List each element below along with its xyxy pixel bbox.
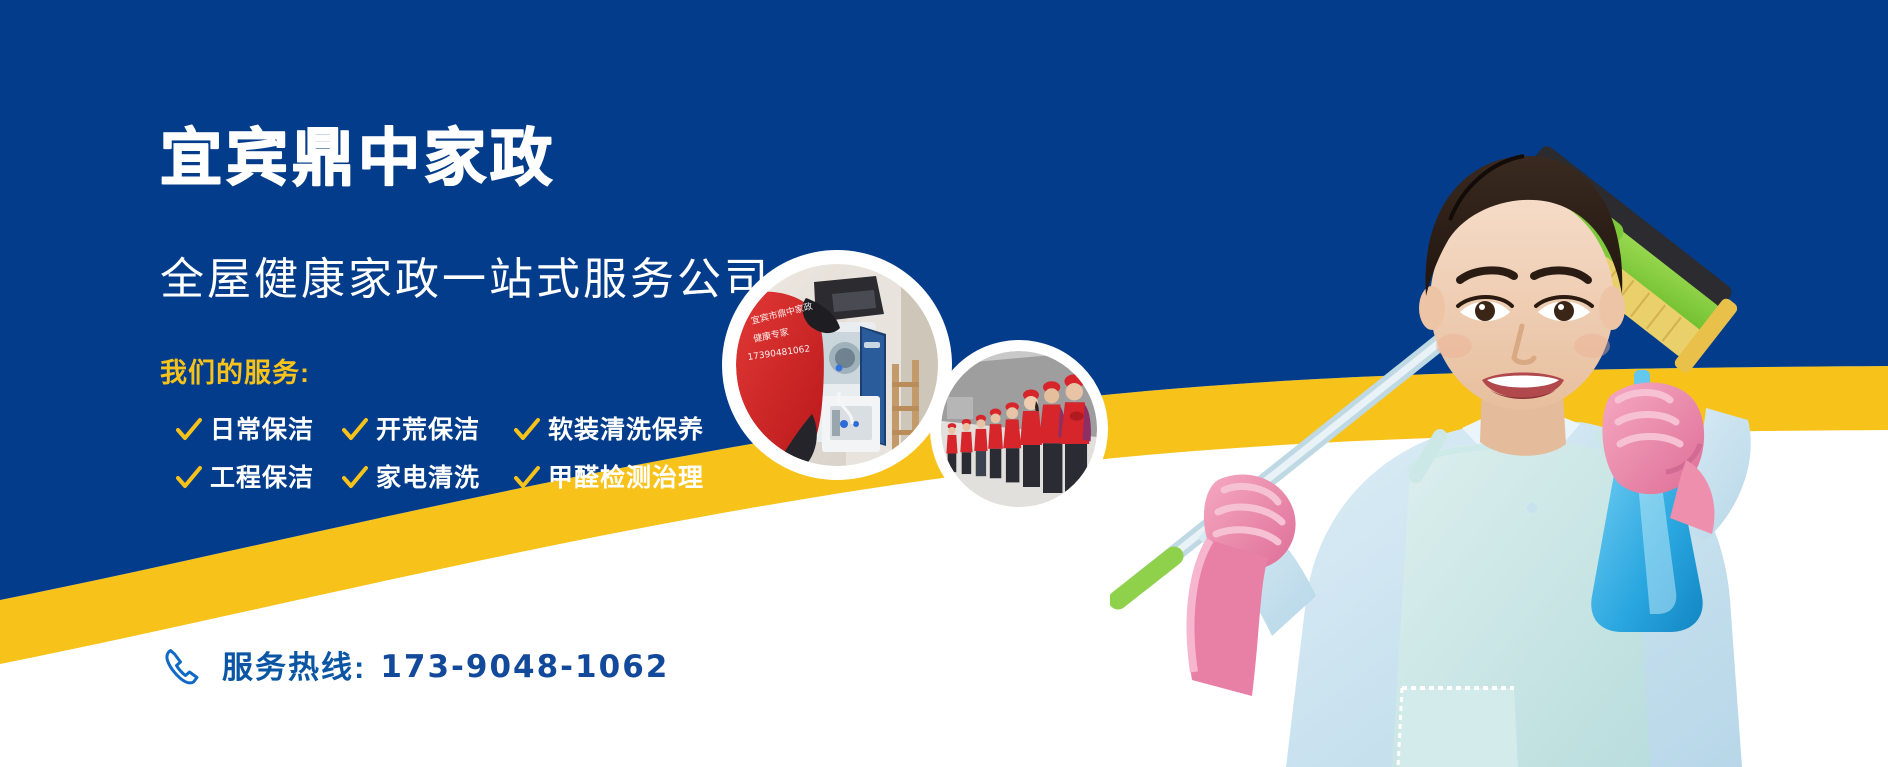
check-icon: [176, 417, 202, 443]
phone-icon: [160, 645, 204, 689]
service-label: 软装清洗保养: [548, 418, 704, 443]
photo-inner: [941, 351, 1097, 507]
hotline-block[interactable]: 服务热线: 173-9048-1062: [160, 645, 669, 689]
services-list: 日常保洁 开荒保洁 软装清洗保养: [176, 406, 730, 502]
check-icon: [176, 465, 202, 491]
service-row: 工程保洁 家电清洗 甲醛检测治理: [176, 454, 730, 502]
check-icon: [342, 465, 368, 491]
photo-artwork: [941, 351, 1097, 507]
service-label: 家电清洗: [376, 466, 480, 491]
service-label: 工程保洁: [210, 466, 314, 491]
service-label: 开荒保洁: [376, 418, 480, 443]
check-icon: [514, 417, 540, 443]
brand-title: 宜宾鼎中家政: [160, 128, 556, 190]
service-item[interactable]: 日常保洁: [176, 417, 316, 443]
service-label: 甲醛检测治理: [548, 466, 704, 491]
services-heading: 我们的服务:: [160, 360, 310, 387]
service-item[interactable]: 软装清洗保养: [514, 417, 704, 443]
service-item[interactable]: 工程保洁: [176, 465, 316, 491]
promo-banner: 宜宾鼎中家政 全屋健康家政一站式服务公司 我们的服务: 日常保洁: [0, 0, 1888, 767]
service-item[interactable]: 开荒保洁: [342, 417, 488, 443]
service-label: 日常保洁: [210, 418, 314, 443]
check-icon: [514, 465, 540, 491]
service-item[interactable]: 家电清洗: [342, 465, 488, 491]
hotline-label: 服务热线:: [222, 652, 366, 683]
hotline-number[interactable]: 173-9048-1062: [380, 652, 669, 683]
service-row: 日常保洁 开荒保洁 软装清洗保养: [176, 406, 730, 454]
photo-team-lineup[interactable]: [930, 340, 1108, 518]
check-icon: [342, 417, 368, 443]
service-item[interactable]: 甲醛检测治理: [514, 465, 704, 491]
brand-subtitle: 全屋健康家政一站式服务公司: [160, 258, 771, 302]
